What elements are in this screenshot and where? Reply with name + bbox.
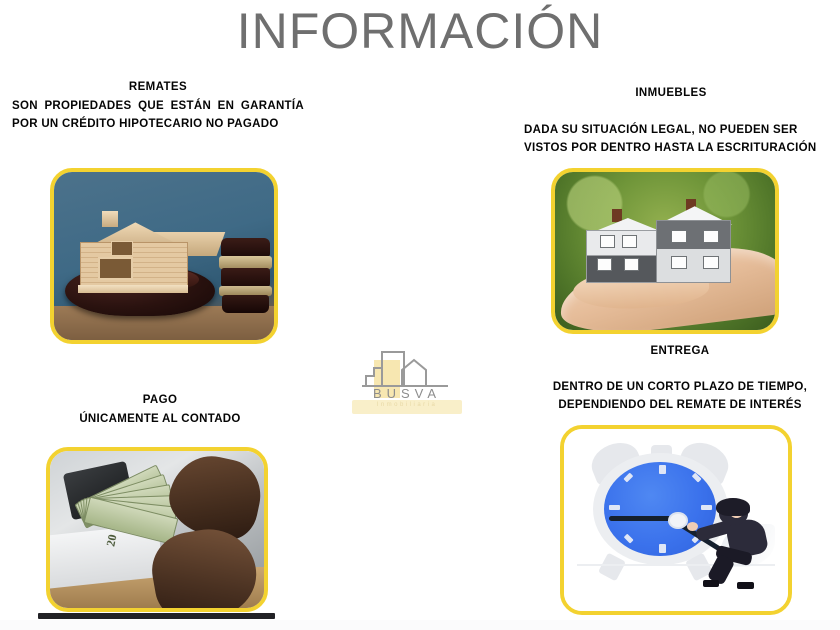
section-body-pago: ÚNICAMENTE AL CONTADO — [14, 410, 306, 429]
section-text-entrega: ENTREGA DENTRO DE UN CORTO PLAZO DE TIEM… — [520, 343, 840, 415]
section-body-remates: SON PROPIEDADES QUE ESTÁN EN GARANTÍA PO… — [12, 97, 304, 134]
image-frame-remates — [50, 168, 278, 344]
wooden-house-on-judge-gavel-photo — [54, 172, 274, 340]
slide-canvas: INFORMACIÓN REMATES SON PROPIEDADES QUE … — [0, 0, 840, 630]
section-text-pago: PAGO ÚNICAMENTE AL CONTADO — [14, 392, 306, 428]
section-body-entrega-line2: DEPENDIENDO DEL REMATE DE INTERÉS — [520, 396, 840, 415]
image-frame-pago: 20 20 — [46, 447, 268, 612]
logo-name: BUSVA — [352, 386, 462, 401]
section-body-entrega-line1: DENTRO DE UN CORTO PLAZO DE TIEMPO, — [520, 378, 840, 397]
page-title: INFORMACIÓN — [0, 4, 840, 58]
logo-subtitle: Inmobiliaria — [352, 402, 462, 408]
section-heading-pago: PAGO — [14, 392, 306, 409]
laptop-edge-bar — [38, 613, 275, 619]
image-frame-inmuebles — [551, 168, 779, 334]
section-heading-inmuebles: INMUEBLES — [524, 85, 818, 102]
section-text-inmuebles: INMUEBLES DADA SU SITUACIÓN LEGAL, NO PU… — [524, 85, 840, 158]
alarm-clock-with-person-illustration — [564, 429, 788, 611]
busva-logo: BUSVA Inmobiliaria — [352, 336, 462, 420]
image-frame-entrega — [560, 425, 792, 615]
section-heading-remates: REMATES — [12, 79, 304, 96]
bottom-strip — [0, 620, 840, 630]
section-text-remates: REMATES SON PROPIEDADES QUE ESTÁN EN GAR… — [12, 79, 304, 134]
hands-counting-cash-photo: 20 20 — [50, 451, 264, 608]
hand-holding-miniature-house-photo — [555, 172, 775, 330]
section-body-inmuebles-line1: DADA SU SITUACIÓN LEGAL, NO PUEDEN SER — [524, 121, 840, 140]
section-heading-entrega: ENTREGA — [520, 343, 840, 360]
section-body-inmuebles-line2: VISTOS POR DENTRO HASTA LA ESCRITURACIÓN — [524, 139, 840, 158]
